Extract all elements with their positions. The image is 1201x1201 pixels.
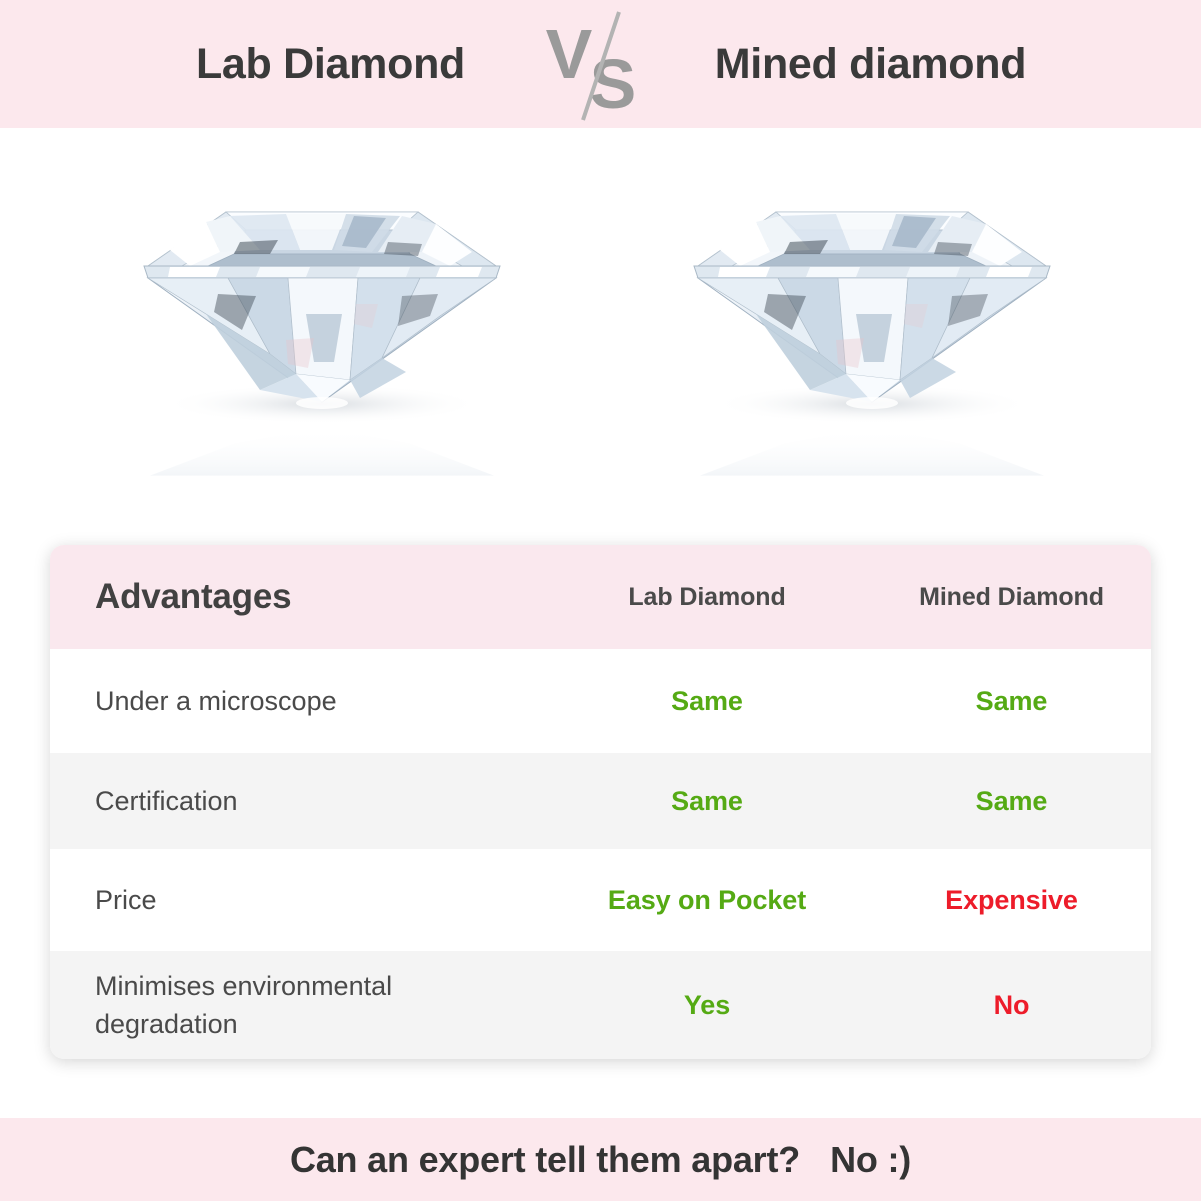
lab-diamond-image: [110, 154, 530, 499]
row-lab-value: Same: [542, 786, 872, 817]
comparison-infographic: Lab Diamond V S Mined diamond: [0, 0, 1201, 1201]
row-mined-value-text: No: [994, 990, 1030, 1020]
table-row: Minimises environmental degradation Yes …: [50, 951, 1151, 1059]
row-lab-value-text: Yes: [684, 990, 730, 1020]
row-lab-value: Yes: [542, 990, 872, 1021]
top-banner: Lab Diamond V S Mined diamond: [0, 0, 1201, 128]
header-advantages-label: Advantages: [95, 577, 291, 616]
footer-question: Can an expert tell them apart?: [290, 1139, 800, 1181]
footer-line: Can an expert tell them apart? No :): [290, 1139, 911, 1181]
header-mined-diamond: Mined Diamond: [872, 583, 1151, 612]
row-mined-value: Same: [872, 686, 1151, 717]
header-mined-diamond-label: Mined Diamond: [919, 583, 1104, 611]
mined-diamond-title: Mined diamond: [661, 40, 1081, 89]
row-mined-value-text: Same: [976, 786, 1048, 816]
vs-icon: V S: [541, 0, 661, 128]
row-lab-value-text: Same: [671, 786, 743, 816]
header-lab-diamond: Lab Diamond: [542, 583, 872, 612]
lab-diamond-title: Lab Diamond: [121, 40, 541, 89]
mined-diamond-image: [660, 154, 1080, 499]
row-feature-label: Price: [95, 885, 157, 915]
comparison-table: Advantages Lab Diamond Mined Diamond Und…: [50, 545, 1151, 1059]
row-mined-value: Expensive: [872, 885, 1151, 916]
table-row: Under a microscope Same Same: [50, 649, 1151, 753]
row-lab-value-text: Easy on Pocket: [608, 885, 806, 915]
header-lab-diamond-label: Lab Diamond: [628, 583, 785, 611]
row-feature: Certification: [50, 782, 542, 820]
row-feature-label: Under a microscope: [95, 686, 337, 716]
row-feature: Price: [50, 881, 542, 919]
row-feature: Minimises environmental degradation: [50, 967, 542, 1044]
bottom-banner: Can an expert tell them apart? No :): [0, 1118, 1201, 1201]
row-feature-label: Minimises environmental degradation: [95, 971, 392, 1039]
table-row: Certification Same Same: [50, 753, 1151, 849]
footer-answer: No :): [830, 1139, 911, 1181]
row-feature-label: Certification: [95, 786, 238, 816]
row-lab-value: Easy on Pocket: [542, 885, 872, 916]
row-lab-value-text: Same: [671, 686, 743, 716]
header-advantages: Advantages: [50, 577, 542, 617]
row-mined-value: Same: [872, 786, 1151, 817]
table-row: Price Easy on Pocket Expensive: [50, 849, 1151, 951]
svg-text:V: V: [545, 15, 592, 93]
row-mined-value-text: Same: [976, 686, 1048, 716]
diamond-image-area: [0, 128, 1201, 533]
row-mined-value-text: Expensive: [945, 885, 1078, 915]
row-mined-value: No: [872, 990, 1151, 1021]
row-feature: Under a microscope: [50, 682, 542, 720]
table-header-row: Advantages Lab Diamond Mined Diamond: [50, 545, 1151, 649]
row-lab-value: Same: [542, 686, 872, 717]
